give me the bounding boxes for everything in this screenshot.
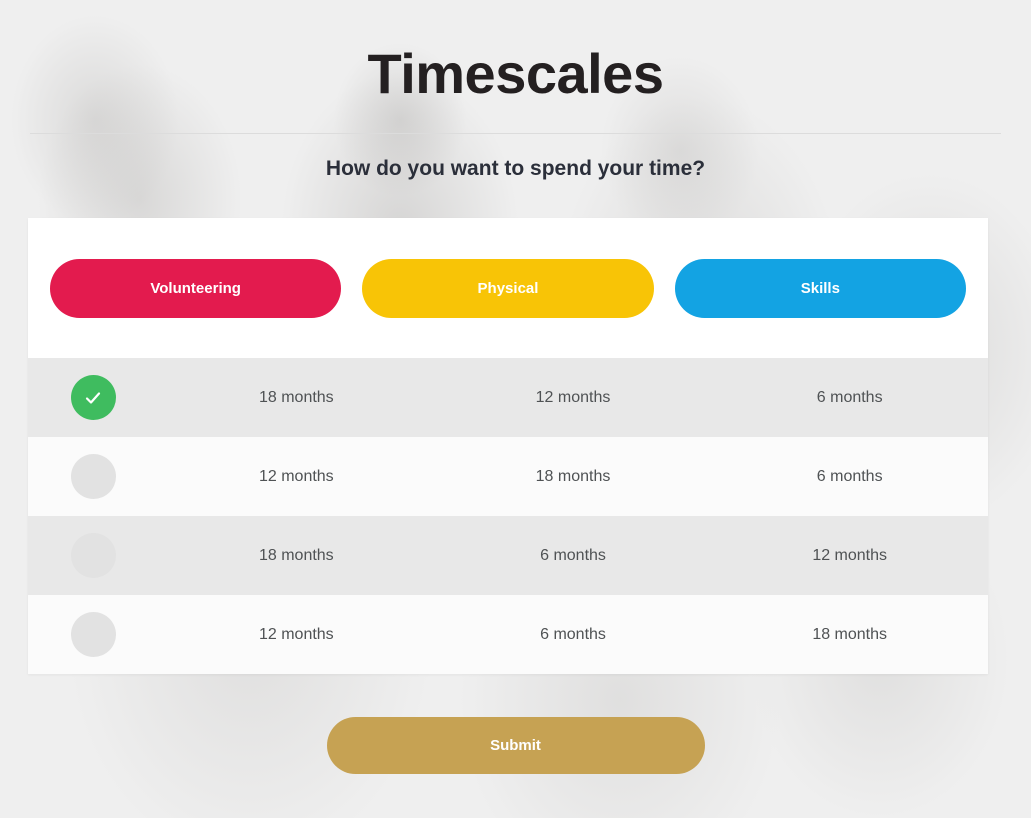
option-4-physical: 6 months	[435, 626, 712, 644]
category-pill-volunteering[interactable]: Volunteering	[50, 259, 341, 318]
option-4-volunteering: 12 months	[158, 626, 435, 644]
option-radio-1[interactable]	[71, 375, 116, 420]
option-3-volunteering: 18 months	[158, 547, 435, 565]
timescales-card: Volunteering Physical Skills 18 months 1…	[28, 218, 988, 674]
option-2-physical: 18 months	[435, 468, 712, 486]
option-radio-cell[interactable]	[28, 375, 158, 420]
category-pill-volunteering-label: Volunteering	[150, 280, 241, 297]
option-1-physical: 12 months	[435, 389, 712, 407]
option-1-volunteering: 18 months	[158, 389, 435, 407]
option-4-skills: 18 months	[711, 626, 988, 644]
option-2-skills: 6 months	[711, 468, 988, 486]
category-pill-physical-label: Physical	[478, 280, 539, 297]
option-radio-cell[interactable]	[28, 454, 158, 499]
submit-button[interactable]: Submit	[327, 717, 705, 774]
header-divider	[30, 133, 1001, 134]
option-2-volunteering: 12 months	[158, 468, 435, 486]
table-row[interactable]: 18 months 6 months 12 months	[28, 516, 988, 595]
option-3-skills: 12 months	[711, 547, 988, 565]
option-3-physical: 6 months	[435, 547, 712, 565]
table-row[interactable]: 12 months 6 months 18 months	[28, 595, 988, 674]
option-radio-cell[interactable]	[28, 533, 158, 578]
timescales-page: Timescales How do you want to spend your…	[0, 0, 1031, 818]
page-title: Timescales	[0, 0, 1031, 102]
category-pill-row: Volunteering Physical Skills	[28, 218, 988, 358]
option-radio-2[interactable]	[71, 454, 116, 499]
page-subtitle: How do you want to spend your time?	[0, 157, 1031, 181]
category-pill-skills-label: Skills	[801, 280, 840, 297]
submit-row: Submit	[0, 717, 1031, 774]
option-radio-3[interactable]	[71, 533, 116, 578]
category-pill-physical[interactable]: Physical	[362, 259, 653, 318]
option-radio-4[interactable]	[71, 612, 116, 657]
option-1-skills: 6 months	[711, 389, 988, 407]
option-radio-cell[interactable]	[28, 612, 158, 657]
category-pill-skills[interactable]: Skills	[675, 259, 966, 318]
check-icon	[82, 387, 104, 409]
table-row[interactable]: 18 months 12 months 6 months	[28, 358, 988, 437]
table-row[interactable]: 12 months 18 months 6 months	[28, 437, 988, 516]
